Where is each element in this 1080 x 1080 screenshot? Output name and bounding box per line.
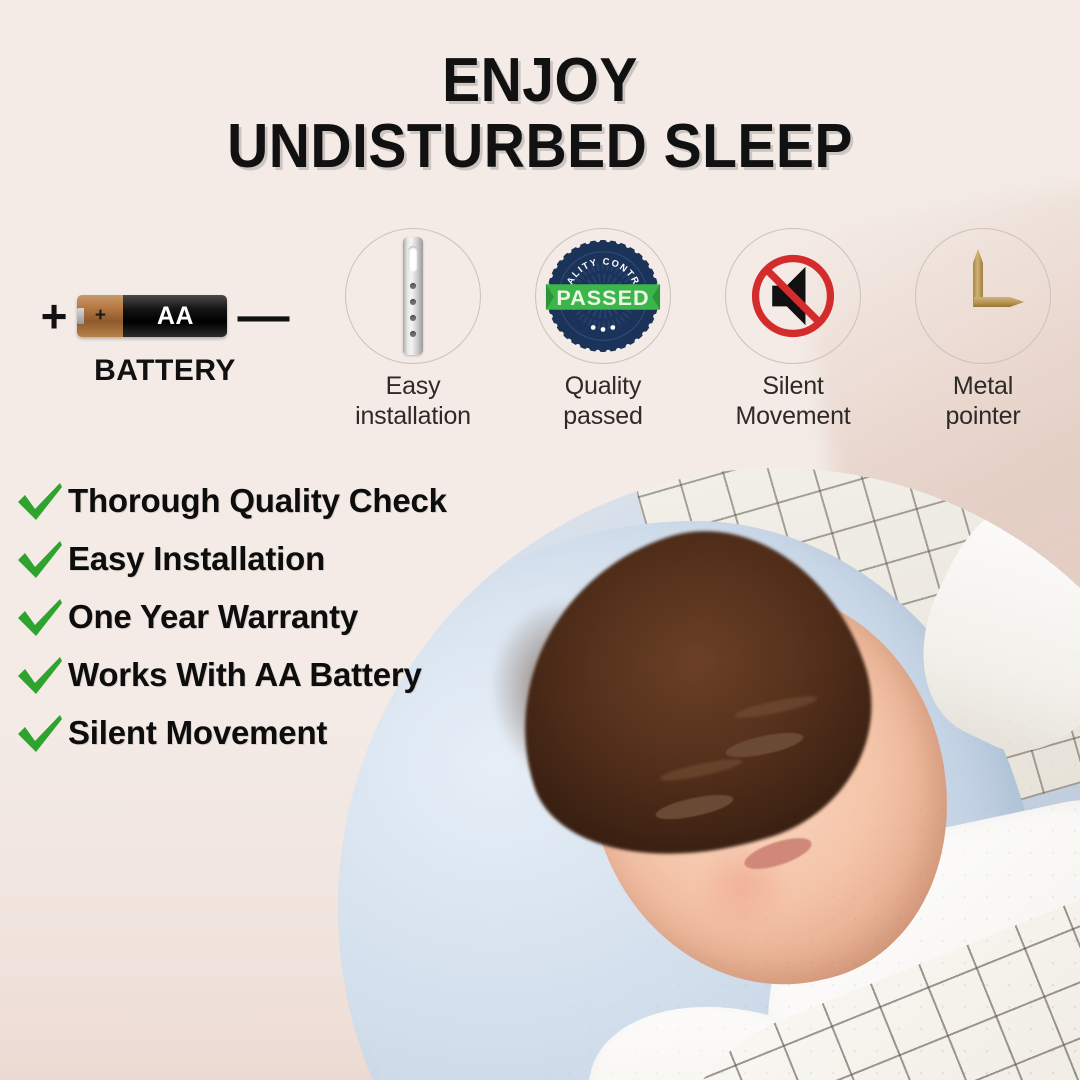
badge-label: Silent Movement xyxy=(735,372,850,431)
battery-caption: BATTERY xyxy=(30,354,300,388)
feature-badge-row: Easy installation xyxy=(318,228,1080,431)
seal-dot xyxy=(610,325,615,330)
list-item: Works With AA Battery xyxy=(12,646,532,704)
badge-label-line-1: Easy xyxy=(386,372,441,400)
badge-circle xyxy=(915,228,1051,364)
list-item-label: Easy Installation xyxy=(68,540,325,578)
badge-label-line-2: Movement xyxy=(735,402,850,430)
headline-line-1: ENJOY xyxy=(43,48,1037,114)
list-item-label: Thorough Quality Check xyxy=(68,482,447,520)
list-item: Silent Movement xyxy=(12,704,532,762)
badge-label-line-1: Quality xyxy=(565,372,641,400)
seal-svg: QUALITY CONTROL PASSED xyxy=(544,237,662,355)
battery-row: + + AA — xyxy=(30,290,300,342)
badge-easy-installation: Easy installation xyxy=(318,228,508,431)
badge-circle xyxy=(345,228,481,364)
seal-dot xyxy=(591,325,596,330)
seal-ribbon-text: PASSED xyxy=(556,285,649,310)
clock-hands-icon xyxy=(928,241,1038,351)
badge-label: Easy installation xyxy=(355,372,471,431)
quality-passed-seal-icon: QUALITY CONTROL PASSED xyxy=(544,237,662,355)
mounting-bracket-icon xyxy=(403,237,423,355)
bracket-hole xyxy=(410,283,416,289)
badge-label-line-1: Metal xyxy=(953,372,1013,400)
hour-hand xyxy=(974,297,1024,307)
badge-label: Quality passed xyxy=(563,372,642,431)
battery-size-label: AA xyxy=(157,302,194,331)
battery-feature: + + AA — BATTERY xyxy=(30,290,300,388)
badge-label-line-2: installation xyxy=(355,402,471,430)
product-feature-poster: ENJOY UNDISTURBED SLEEP + + AA — BATTERY xyxy=(0,0,1080,1080)
badge-circle xyxy=(725,228,861,364)
badge-quality-passed: QUALITY CONTROL PASSED xyxy=(508,228,698,431)
green-check-icon xyxy=(12,536,68,582)
bracket-hole xyxy=(410,299,416,305)
green-check-icon xyxy=(12,652,68,698)
badge-circle: QUALITY CONTROL PASSED xyxy=(535,228,671,364)
badge-label-line-2: passed xyxy=(563,402,642,430)
battery-body: AA xyxy=(123,295,227,337)
page-title: ENJOY UNDISTURBED SLEEP xyxy=(43,48,1037,179)
bracket-keyhole-slot xyxy=(409,246,418,272)
aa-battery-icon: + AA xyxy=(77,295,227,337)
list-item-label: Works With AA Battery xyxy=(68,656,422,694)
badge-label-line-2: pointer xyxy=(945,402,1020,430)
list-item-label: Silent Movement xyxy=(68,714,327,752)
minus-sign-icon: — xyxy=(237,290,289,342)
list-item: Easy Installation xyxy=(12,530,532,588)
seal-dot xyxy=(601,327,606,332)
bracket-hole xyxy=(410,331,416,337)
green-check-icon xyxy=(12,594,68,640)
bracket-hole xyxy=(410,315,416,321)
badge-label: Metal pointer xyxy=(945,372,1020,431)
plus-sign-icon: + xyxy=(41,293,68,339)
list-item-label: One Year Warranty xyxy=(68,598,358,636)
no-sound-icon xyxy=(741,244,845,348)
headline-line-2: UNDISTURBED SLEEP xyxy=(43,114,1037,180)
list-item: One Year Warranty xyxy=(12,588,532,646)
feature-checklist: Thorough Quality Check Easy Installation… xyxy=(12,472,532,762)
badge-label-line-1: Silent xyxy=(762,372,823,400)
badge-silent-movement: Silent Movement xyxy=(698,228,888,431)
no-sound-svg xyxy=(741,244,845,348)
list-item: Thorough Quality Check xyxy=(12,472,532,530)
seal-ribbon: PASSED xyxy=(546,284,660,310)
green-check-icon xyxy=(12,478,68,524)
green-check-icon xyxy=(12,710,68,756)
battery-terminal-nub xyxy=(77,308,84,324)
battery-positive-end: + xyxy=(77,295,123,337)
badge-metal-pointer: Metal pointer xyxy=(888,228,1078,431)
clock-hands-svg xyxy=(928,241,1038,351)
